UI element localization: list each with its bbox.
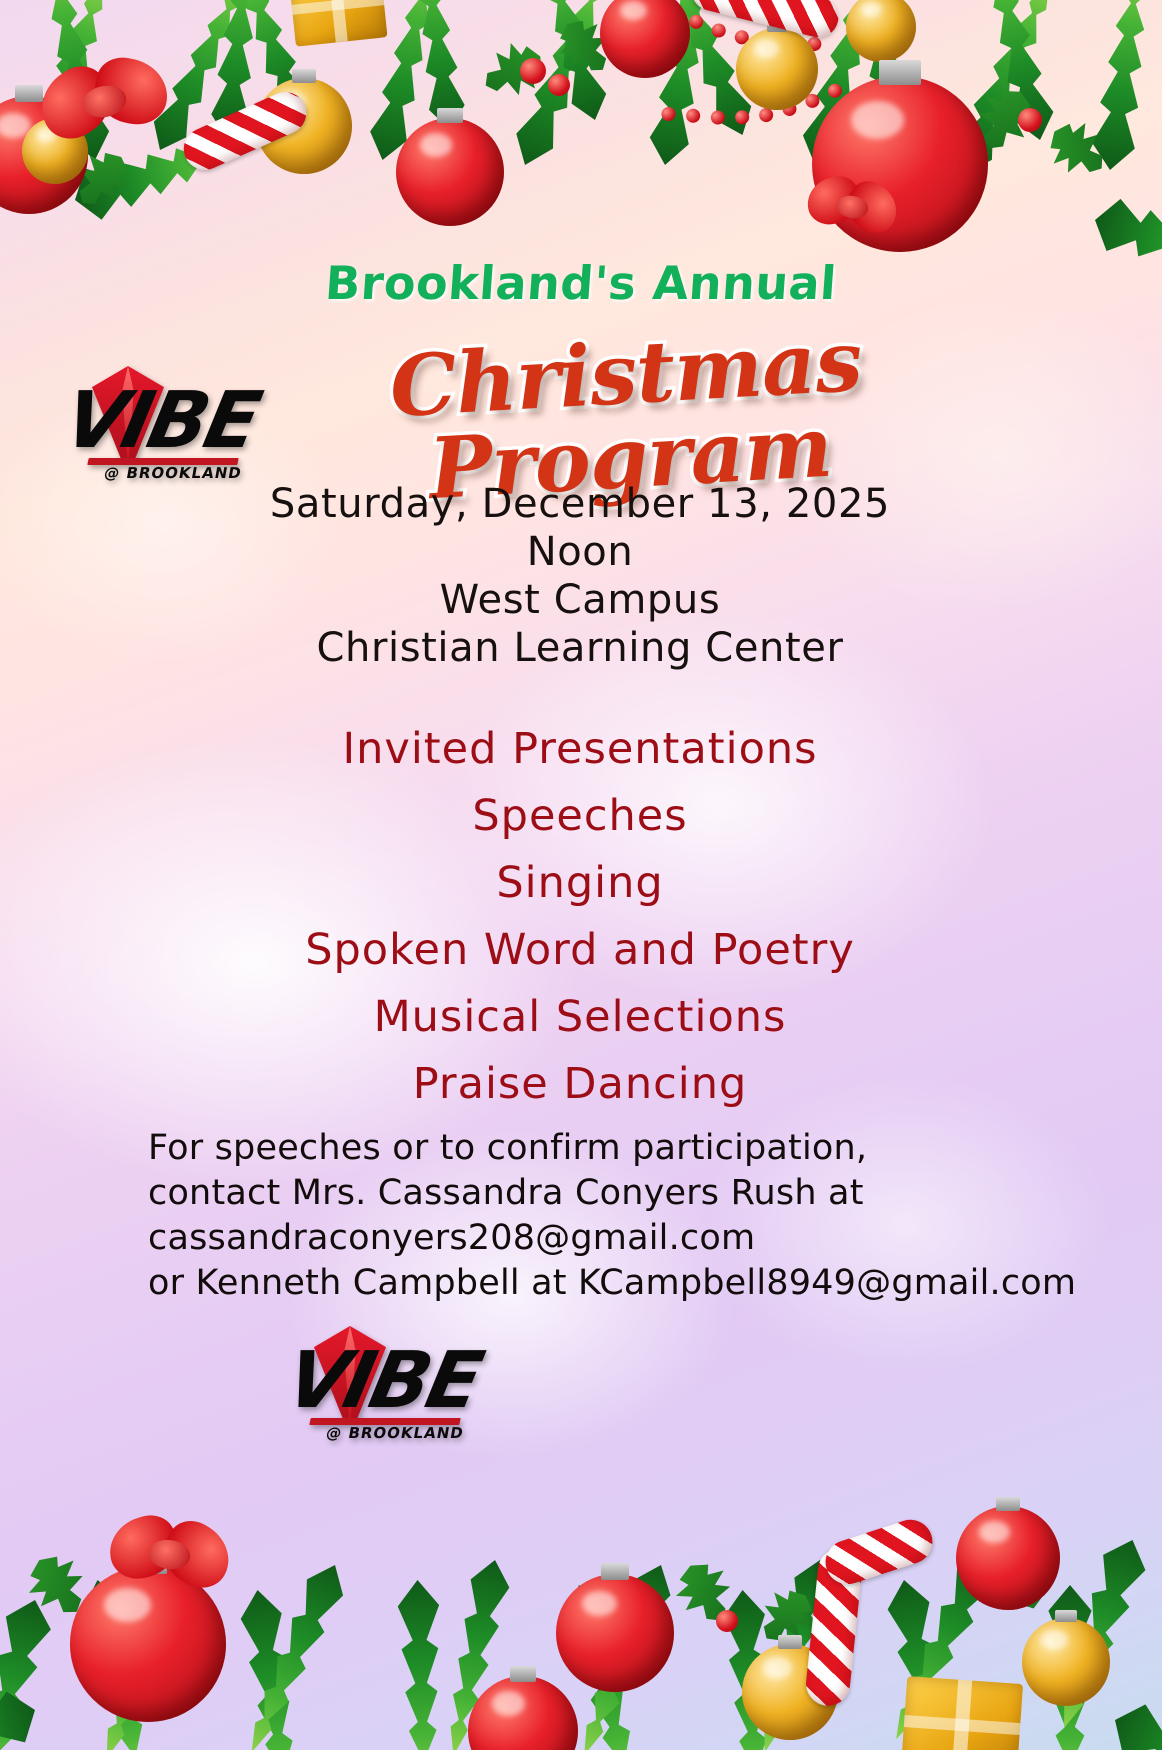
vibe-wordmark: VIBE [280,1342,483,1420]
program-item: Singing [120,850,1040,917]
program-item: Invited Presentations [120,716,1040,783]
program-list: Invited Presentations Speeches Singing S… [120,716,1040,1118]
event-line: Saturday, December 13, 2025 [180,480,980,528]
vibe-logo-footer: VIBE @ BROOKLAND [288,1320,474,1444]
event-line: Christian Learning Center [180,624,980,672]
flyer-eyebrow-title: Brookland's Annual [0,256,1162,310]
vibe-tagline: @ BROOKLAND [300,1424,489,1442]
program-item: Spoken Word and Poetry [120,917,1040,984]
event-details: Saturday, December 13, 2025 Noon West Ca… [180,480,980,672]
program-item: Speeches [120,783,1040,850]
flyer-content: Brookland's Annual Christmas Program VIB… [0,0,1162,1750]
program-item: Musical Selections [120,984,1040,1051]
contact-email[interactable]: cassandraconyers208@gmail.com [148,1216,1048,1261]
contact-email-secondary[interactable]: or Kenneth Campbell at KCampbell8949@gma… [148,1261,1048,1306]
event-line: Noon [180,528,980,576]
contact-block: For speeches or to confirm participation… [148,1126,1048,1306]
contact-line: contact Mrs. Cassandra Conyers Rush at [148,1171,1048,1216]
christmas-program-flyer: Brookland's Annual Christmas Program VIB… [0,0,1162,1750]
vibe-logo: VIBE @ BROOKLAND [66,360,252,484]
program-item: Praise Dancing [120,1051,1040,1118]
vibe-wordmark: VIBE [58,382,261,460]
event-line: West Campus [180,576,980,624]
contact-line: For speeches or to confirm participation… [148,1126,1048,1171]
